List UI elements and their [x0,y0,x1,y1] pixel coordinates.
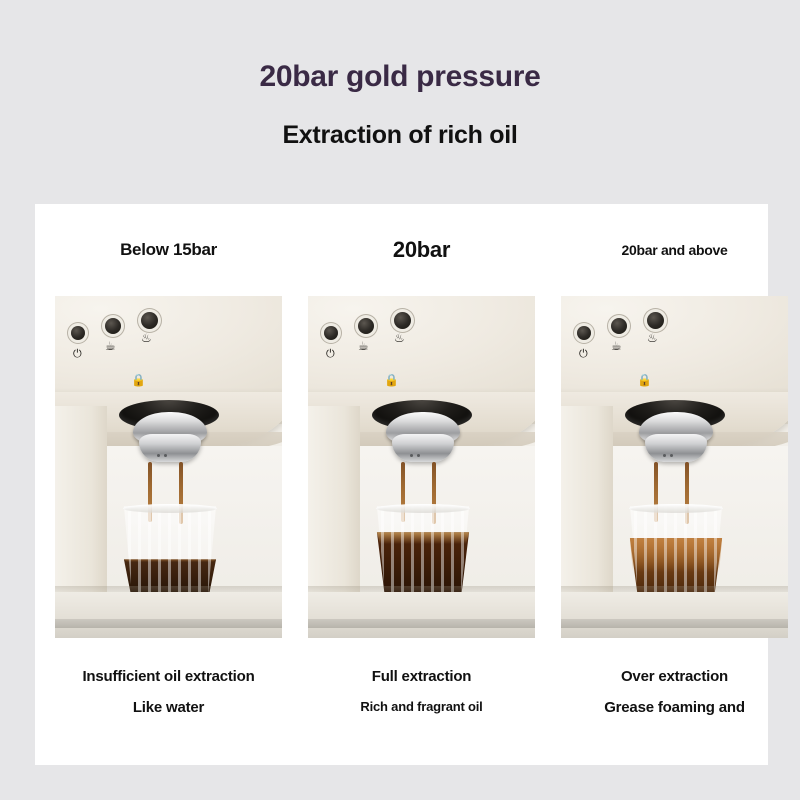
power-button[interactable] [324,326,338,340]
drip-tray [308,592,535,638]
comparison-column-below-15bar: Below 15bar ⏻ ☕ ♨ 🔒 [55,204,282,765]
caption-line-1: Full extraction [308,668,535,686]
comparison-columns: Below 15bar ⏻ ☕ ♨ 🔒 [35,204,768,765]
power-icon: ⏻ [579,348,588,359]
portafilter-group-head [113,400,225,484]
portafilter-spout [139,434,201,462]
portafilter-spout [645,434,707,462]
caption-line-1: Insufficient oil extraction [55,668,282,686]
espresso-photo: ⏻ ☕ ♨ 🔒 [561,296,788,638]
caption-line-2: Rich and fragrant oil [308,699,535,715]
single-cup-button[interactable] [105,318,121,334]
column-captions: Over extraction Grease foaming and [561,638,788,717]
poster-headings: 20bar gold pressure Extraction of rich o… [0,0,800,149]
steam-button[interactable] [394,312,411,329]
power-icon: ⏻ [73,348,82,359]
column-captions: Full extraction Rich and fragrant oil [308,638,535,715]
control-panel: ⏻ ☕ ♨ [322,310,442,358]
drip-tray-grate [308,619,535,628]
steam-button[interactable] [141,312,158,329]
comparison-column-20bar: 20bar ⏻ ☕ ♨ 🔒 [308,204,535,765]
steam-icon: ♨ [647,332,658,344]
power-icon: ⏻ [326,348,335,359]
comparison-column-20bar-and-above: 20bar and above ⏻ ☕ ♨ 🔒 [561,204,788,765]
cup-rim [629,504,723,513]
single-cup-button[interactable] [611,318,627,334]
portafilter-spout [392,434,454,462]
cup-icon: ☕ [105,340,116,352]
column-header: 20bar [308,204,535,296]
cup-rim [123,504,217,513]
cup-icon: ☕ [358,340,369,352]
caption-line-2: Grease foaming and [561,699,788,717]
control-panel: ⏻ ☕ ♨ [69,310,189,358]
coffee-crema [627,538,725,572]
espresso-photo: ⏻ ☕ ♨ 🔒 [55,296,282,638]
spout-screws [157,454,160,457]
left-spacer [35,204,55,765]
coffee-crema [121,559,219,562]
spout-screws [663,454,666,457]
power-button[interactable] [577,326,591,340]
single-cup-button[interactable] [358,318,374,334]
power-button[interactable] [71,326,85,340]
espresso-photo: ⏻ ☕ ♨ 🔒 [308,296,535,638]
page-title: 20bar gold pressure [0,0,800,95]
cup-rim [376,504,470,513]
portafilter-group-head [619,400,731,484]
cup-icon: ☕ [611,340,622,352]
coffee-crema [374,532,472,544]
spout-screws [410,454,413,457]
column-captions: Insufficient oil extraction Like water [55,638,282,717]
caption-line-1: Over extraction [561,668,788,686]
comparison-card: Below 15bar ⏻ ☕ ♨ 🔒 [35,204,768,765]
steam-icon: ♨ [141,332,152,344]
column-header: Below 15bar [55,204,282,296]
portafilter-group-head [366,400,478,484]
lock-icon: 🔒 [131,374,146,386]
caption-line-2: Like water [55,699,282,717]
drip-tray-grate [561,619,788,628]
drip-tray [561,592,788,638]
lock-icon: 🔒 [637,374,652,386]
page-subtitle: Extraction of rich oil [0,95,800,150]
column-header: 20bar and above [561,204,788,296]
lock-icon: 🔒 [384,374,399,386]
control-panel: ⏻ ☕ ♨ [575,310,695,358]
steam-button[interactable] [647,312,664,329]
drip-tray [55,592,282,638]
steam-icon: ♨ [394,332,405,344]
drip-tray-grate [55,619,282,628]
product-feature-poster: 20bar gold pressure Extraction of rich o… [0,0,800,800]
